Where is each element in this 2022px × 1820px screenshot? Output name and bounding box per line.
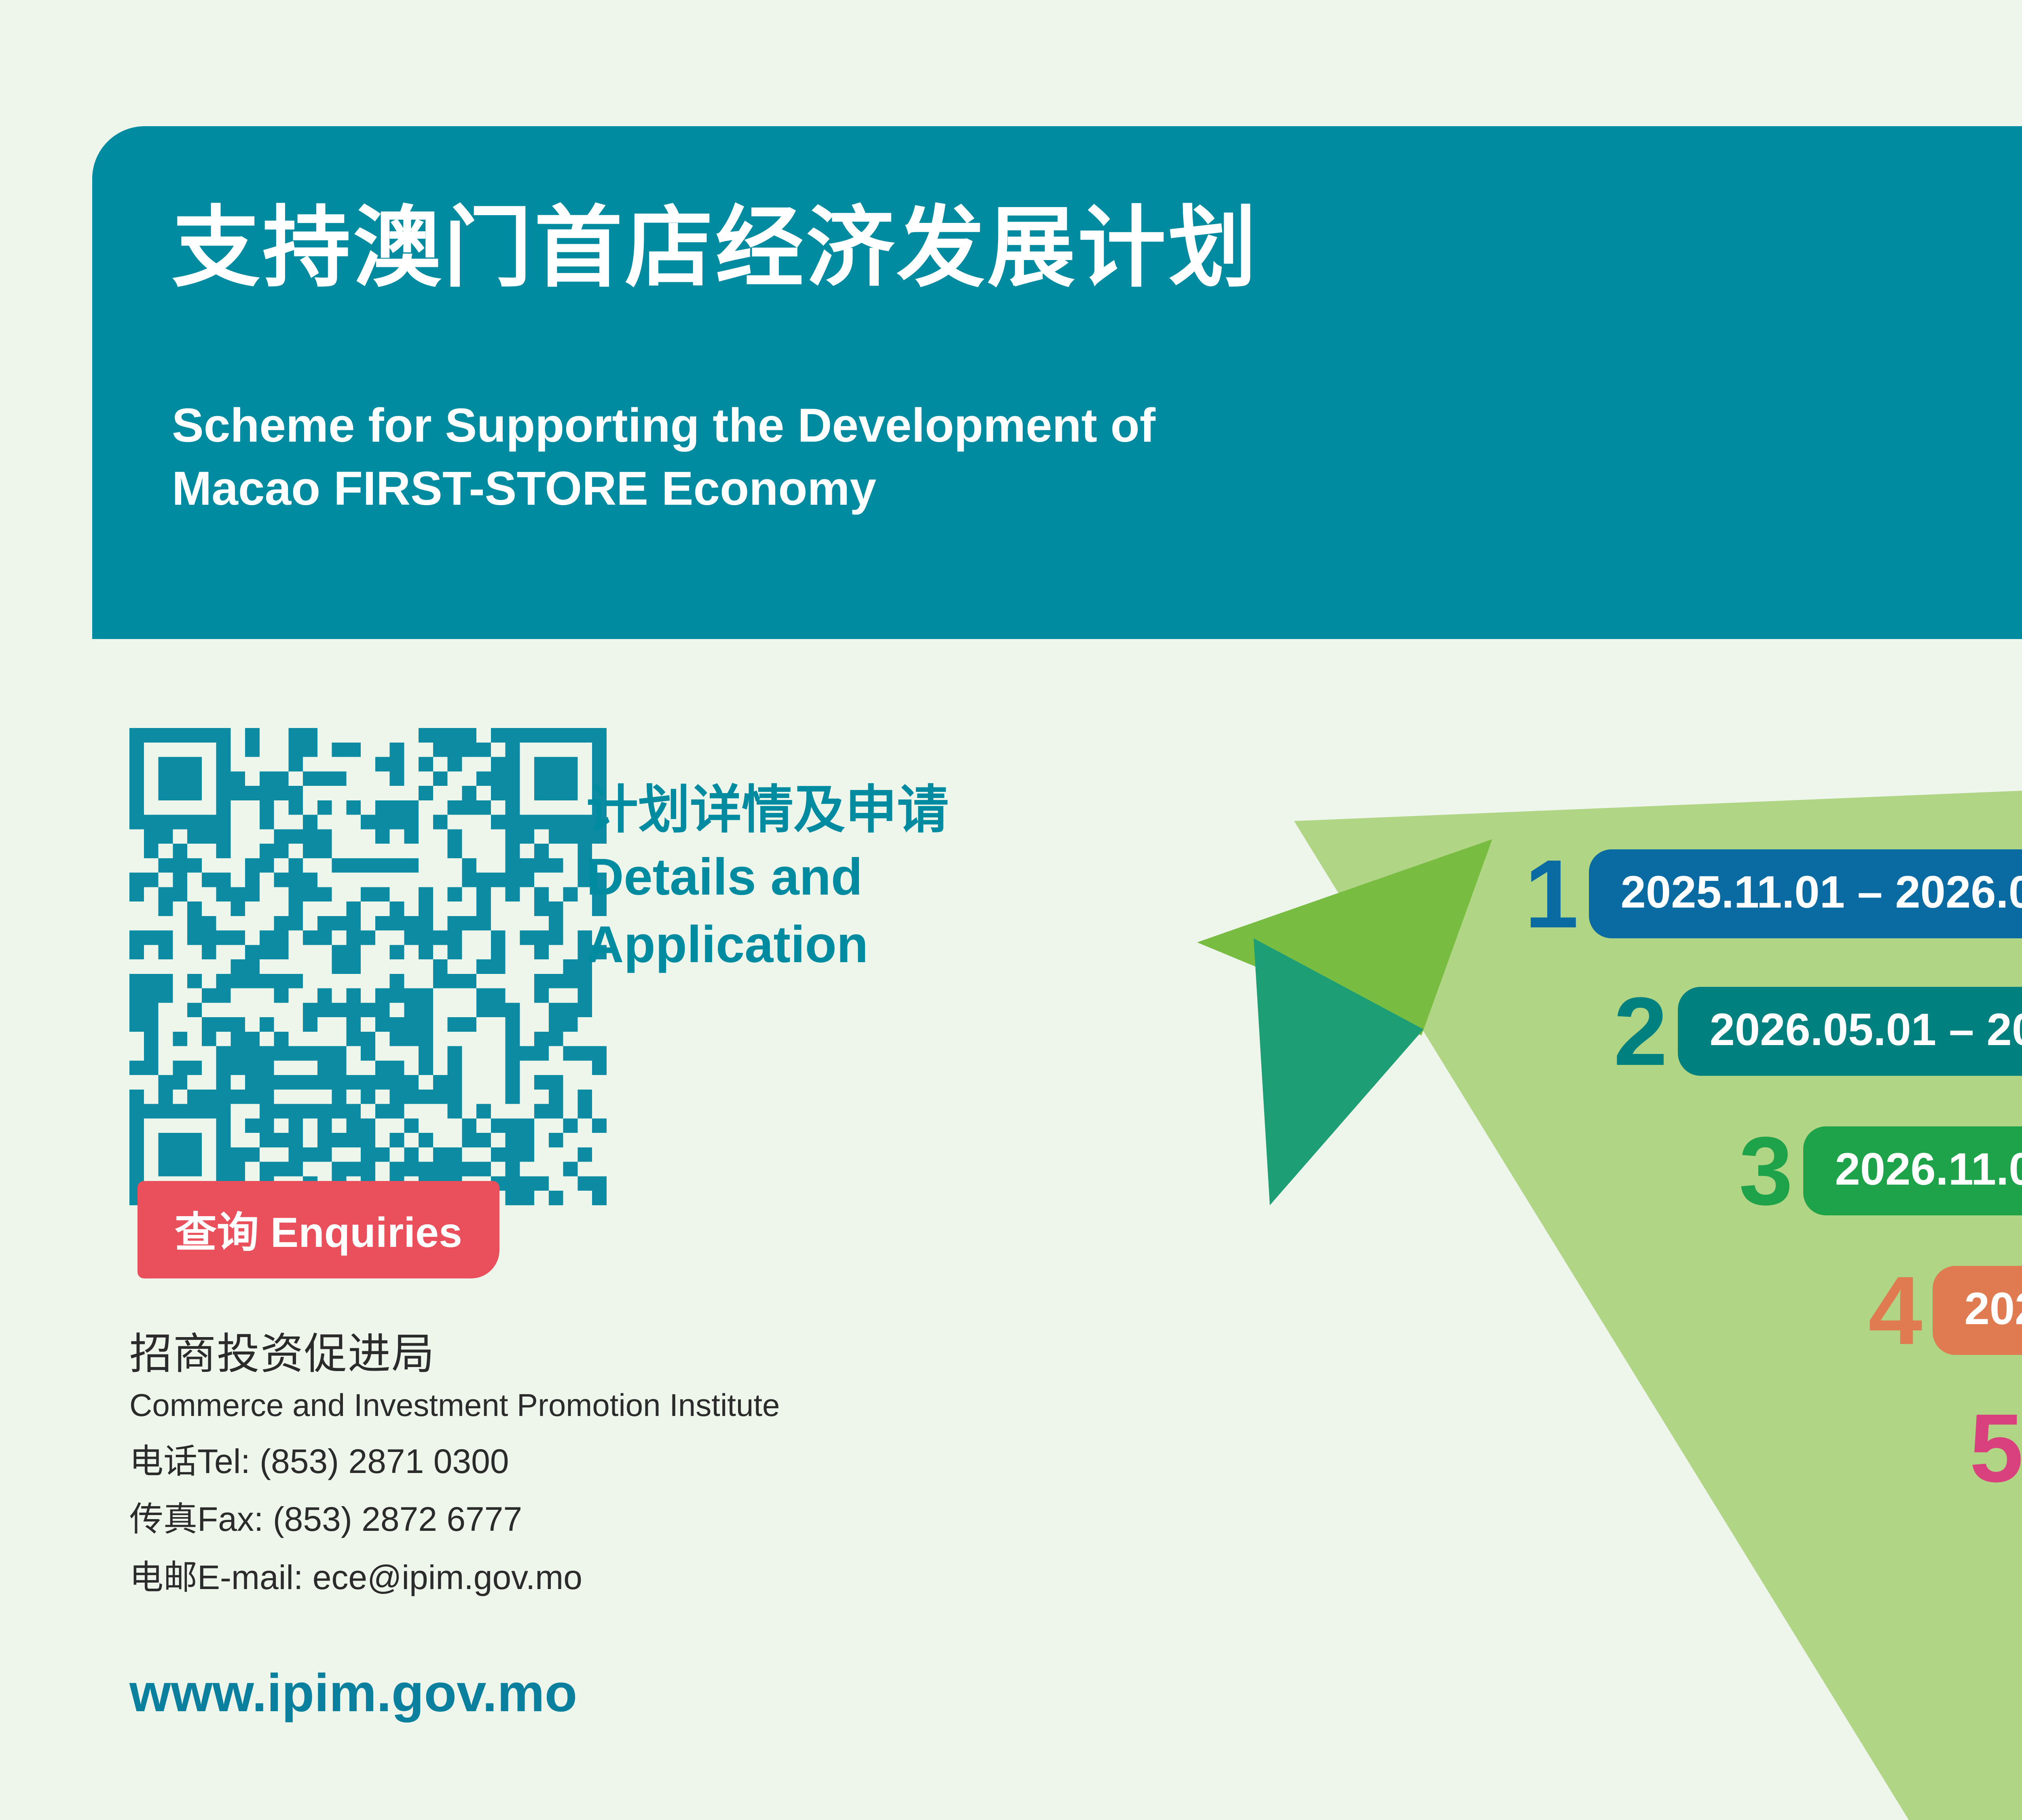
phase-number-4: 4 [1868,1262,1922,1359]
organisation-name-en: Commerce and Investment Promotion Instit… [129,1385,1262,1426]
details-label-en-1: Details and [586,844,1193,911]
phase-date-range-1: 2025.11.01 – 2026.01.31 [1589,849,2022,938]
phase-number-2: 2 [1614,983,1667,1080]
timeline-phase-1: 12025.11.01 – 2026.01.31 [1525,845,2022,942]
organisation-name-cn: 招商投资促进局 [129,1327,1262,1382]
phase-number-3: 3 [1739,1122,1793,1219]
enquiries-badge: 查询 Enquiries [137,1181,499,1278]
timeline-phase-3: 32026.11.01 – 2027.01.31 [1739,1122,2022,1219]
phase-date-range-3: 2026.11.01 – 2027.01.31 [1803,1126,2022,1215]
timeline-phase-2: 22026.05.01 – 2026.07.31 [1614,983,2022,1080]
website-link[interactable]: www.ipim.gov.mo [129,1662,577,1723]
details-and-application-label: 计划详情及申请 Details and Application [586,777,1193,978]
details-label-cn: 计划详情及申请 [586,777,1193,844]
timeline-phase-4: 42027.05.01 – 2027.07.31 [1868,1262,2022,1359]
contact-email[interactable]: 电邮E-mail: ece@ipim.gov.mo [129,1555,1262,1600]
page-subtitle: Scheme for Supporting the Development of… [172,394,1951,521]
subtitle-line-1: Scheme for Supporting the Development of [172,399,1155,452]
phase-date-range-4: 2027.05.01 – 2027.07.31 [1933,1266,2022,1355]
details-label-en-2: Application [586,911,1193,978]
page-title: 支持澳门首店经济发展计划 [172,202,2022,295]
phase-date-range-2: 2026.05.01 – 2026.07.31 [1678,987,2022,1076]
phase-number-5: 5 [1969,1399,2022,1496]
qr-code-canvas[interactable] [129,728,607,1205]
subtitle-line-2: Macao FIRST-STORE Economy [172,462,876,515]
qr-code[interactable] [129,728,607,1205]
contact-block: 招商投资促进局 Commerce and Investment Promotio… [129,1327,1262,1600]
contact-tel: 电话Tel: (853) 2871 0300 [129,1439,1262,1484]
phase-number-1: 1 [1525,845,1578,942]
contact-fax: 传真Fax: (853) 2872 6777 [129,1497,1262,1541]
timeline-phase-5: 52027.11.01 – 2028.01.31 [1969,1399,2022,1496]
